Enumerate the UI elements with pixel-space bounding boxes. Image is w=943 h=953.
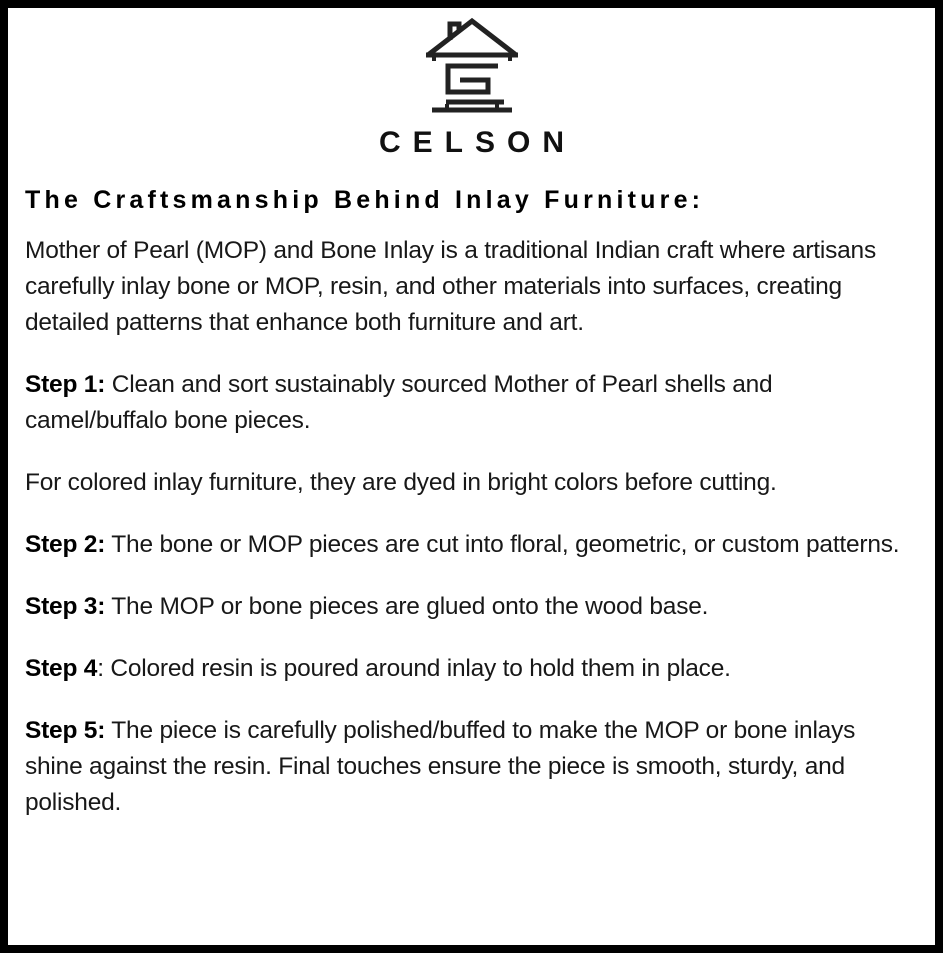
paragraph-lead: Step 5: — [25, 717, 105, 744]
paragraph-step-5: Step 5: The piece is carefully polished/… — [25, 713, 909, 821]
paragraph-lead: Step 3: — [25, 593, 105, 620]
paragraph-text: The bone or MOP pieces are cut into flor… — [105, 531, 899, 558]
paragraph-text: Clean and sort sustainably sourced Mothe… — [25, 371, 772, 434]
paragraph-intro: Mother of Pearl (MOP) and Bone Inlay is … — [25, 233, 909, 341]
brand-wordmark: CELSON — [17, 128, 926, 158]
paragraph-text: : Colored resin is poured around inlay t… — [97, 655, 731, 682]
poster-content: CELSON The Craftsmanship Behind Inlay Fu… — [8, 8, 935, 945]
paragraph-text: For colored inlay furniture, they are dy… — [25, 469, 777, 496]
paragraph-step-2: Step 2: The bone or MOP pieces are cut i… — [25, 527, 909, 563]
paragraph-lead: Step 2: — [25, 531, 105, 558]
paragraph-text: Mother of Pearl (MOP) and Bone Inlay is … — [25, 237, 876, 336]
paragraph-step-3: Step 3: The MOP or bone pieces are glued… — [25, 589, 909, 625]
paragraph-dye-note: For colored inlay furniture, they are dy… — [25, 465, 909, 501]
paragraph-lead: Step 4 — [25, 655, 97, 682]
paragraph-step-4: Step 4: Colored resin is poured around i… — [25, 651, 909, 687]
brand-header: CELSON — [17, 8, 926, 158]
article-body: Mother of Pearl (MOP) and Bone Inlay is … — [25, 215, 909, 821]
poster-frame: CELSON The Craftsmanship Behind Inlay Fu… — [0, 0, 943, 953]
paragraph-step-1: Step 1: Clean and sort sustainably sourc… — [25, 367, 909, 439]
page-title: The Craftsmanship Behind Inlay Furniture… — [25, 186, 926, 215]
paragraph-text: The MOP or bone pieces are glued onto th… — [105, 593, 708, 620]
paragraph-text: The piece is carefully polished/buffed t… — [25, 717, 855, 816]
house-monogram-logo-icon — [420, 14, 524, 116]
paragraph-lead: Step 1: — [25, 371, 105, 398]
